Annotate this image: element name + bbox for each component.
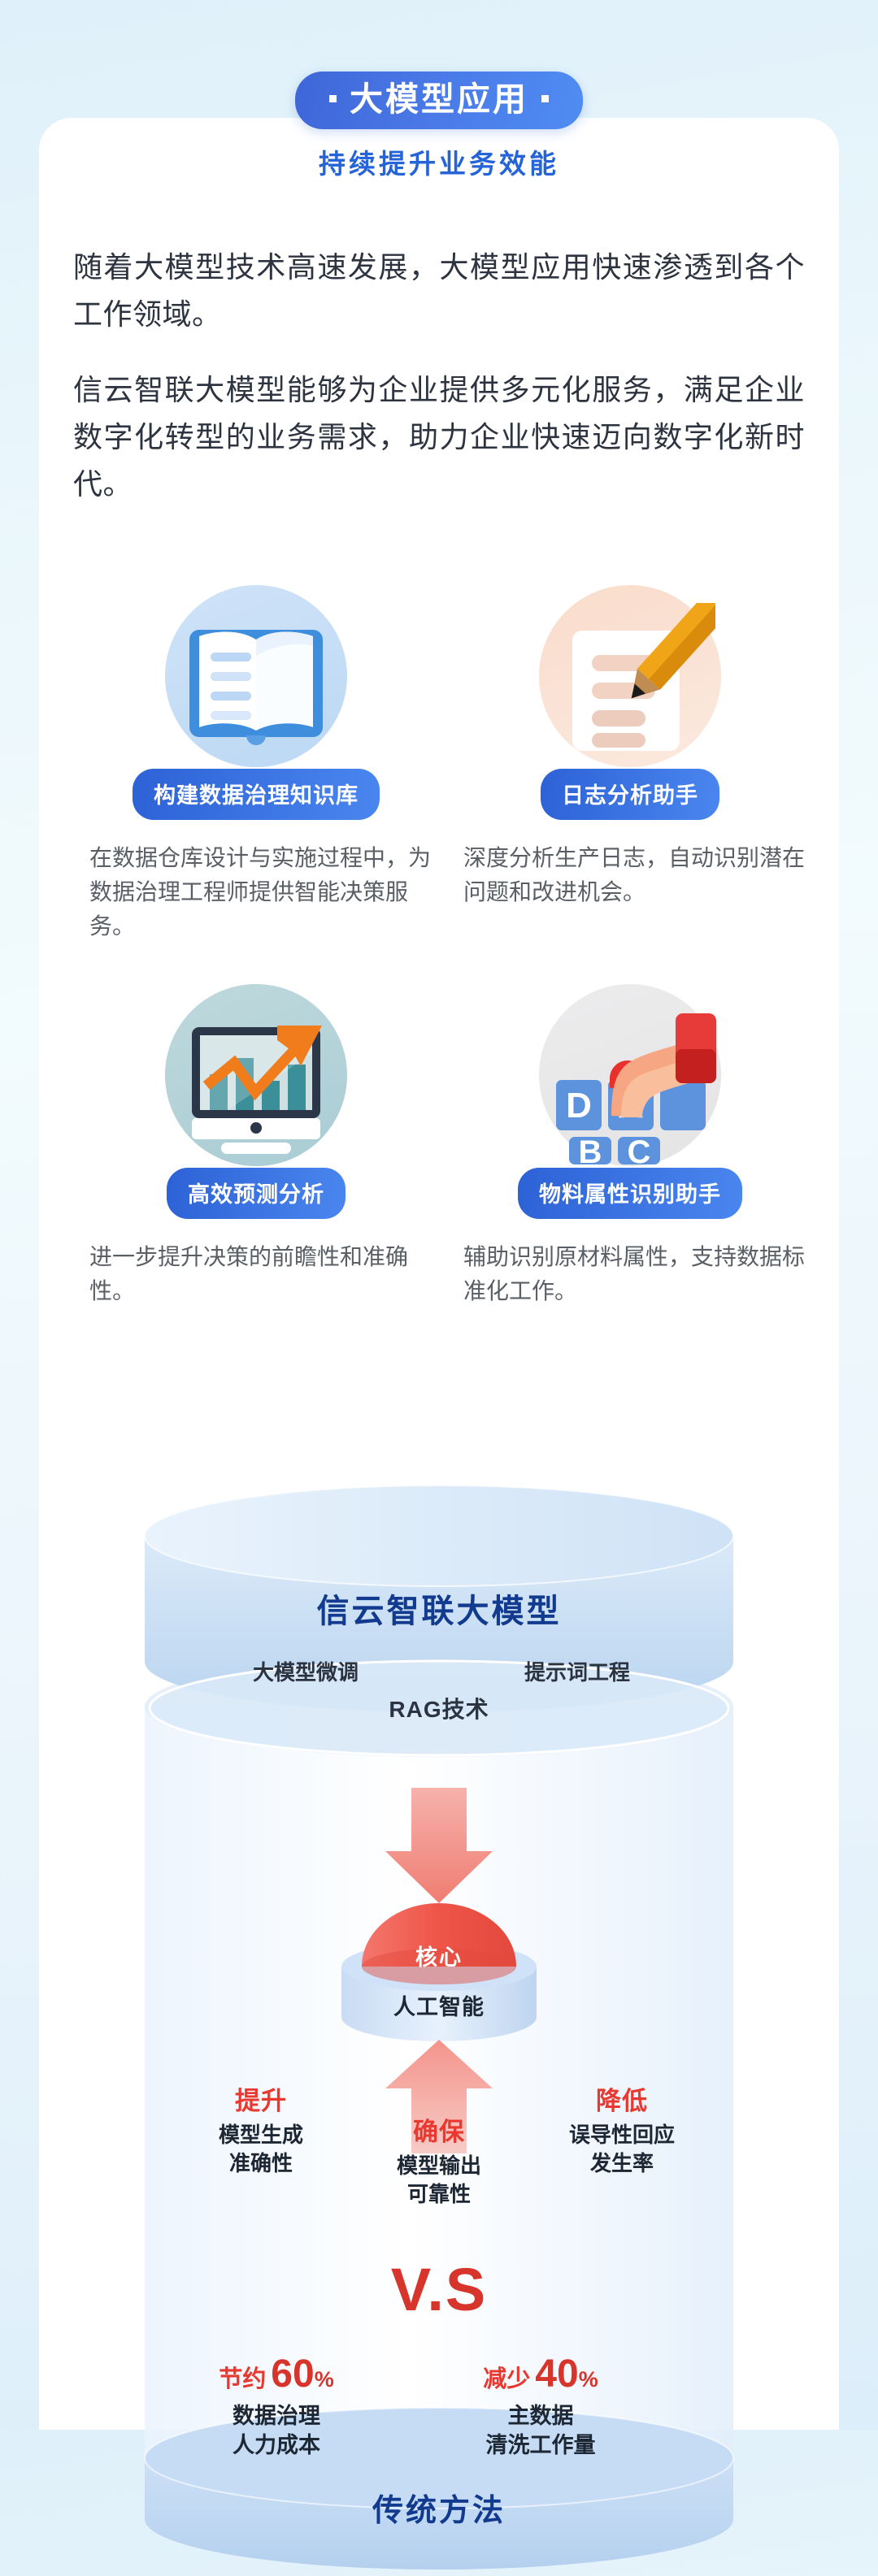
- metric-description: 数据治理人力成本: [175, 2401, 378, 2461]
- svg-text:C: C: [627, 1134, 650, 1164]
- benefit-head: 提升: [167, 2080, 354, 2117]
- metric-value: 60: [271, 2353, 314, 2396]
- benefit-item-1: 提升 模型生成准确性: [167, 2080, 354, 2178]
- feature-label-badge: 高效预测分析: [81, 1168, 431, 1219]
- core-base-label: 人工智能: [0, 1989, 878, 2021]
- tech-label-prompt: 提示词工程: [488, 1656, 667, 1686]
- feature-label-badge: 物料属性识别助手: [455, 1168, 805, 1219]
- metric-value: 40: [535, 2353, 578, 2396]
- intro-paragraph-1: 随着大模型技术高速发展，大模型应用快速渗透到各个工作领域。: [73, 244, 805, 339]
- metric-item-1: 节约60% 数据治理人力成本: [175, 2352, 378, 2461]
- monitor-growth-chart-icon: [171, 1004, 341, 1163]
- feature-label: 高效预测分析: [167, 1168, 346, 1219]
- feature-card-log-analysis[interactable]: 日志分析助手 深度分析生产日志，自动识别潜在问题和改进机会。: [455, 579, 805, 943]
- feature-label-badge: 构建数据治理知识库: [81, 769, 431, 820]
- benefit-body: 模型生成准确性: [167, 2121, 354, 2178]
- intro-paragraph-2: 信云智联大模型能够为企业提供多元化服务，满足企业数字化转型的业务需求，助力企业快…: [73, 366, 805, 509]
- benefit-head: 降低: [524, 2080, 719, 2117]
- feature-illustration: [455, 579, 805, 790]
- feature-description: 进一步提升决策的前瞻性和准确性。: [81, 1240, 431, 1308]
- feature-label: 日志分析助手: [541, 769, 719, 820]
- bottom-cylinder-label: 传统方法: [0, 2485, 878, 2530]
- metric-label: 节约: [219, 2366, 266, 2392]
- metric-description: 主数据清洗工作量: [439, 2401, 642, 2461]
- tech-label-finetune: 大模型微调: [216, 1656, 395, 1686]
- benefit-item-2: 确保 模型输出可靠性: [346, 2111, 532, 2209]
- svg-text:D: D: [566, 1086, 592, 1125]
- metric-unit: %: [315, 2367, 334, 2392]
- feature-illustration: D A B C: [455, 978, 805, 1189]
- metric-label: 减少: [483, 2366, 530, 2392]
- page-title-badge: 大模型应用: [295, 72, 583, 129]
- metric-unit: %: [579, 2367, 598, 2392]
- feature-card-predictive-analysis[interactable]: 高效预测分析 进一步提升决策的前瞻性和准确性。: [81, 978, 431, 1308]
- versus-label: V.S: [0, 2255, 878, 2324]
- feature-card-material-attribute[interactable]: D A B C 物料属性识别助手 辅助识别原材料属性，支持数据标准化工作。: [455, 978, 805, 1308]
- open-book-icon: [175, 607, 337, 761]
- core-dome-label: 核心: [0, 1940, 878, 1971]
- hand-letter-tiles-icon: D A B C: [543, 1002, 718, 1164]
- feature-card-knowledge-base[interactable]: 构建数据治理知识库 在数据仓库设计与实施过程中，为数据治理工程师提供智能决策服务…: [81, 579, 431, 943]
- benefit-head: 确保: [346, 2111, 532, 2148]
- title-dot-left-icon: [329, 95, 337, 102]
- feature-description: 辅助识别原材料属性，支持数据标准化工作。: [455, 1240, 805, 1308]
- intro-section: 随着大模型技术高速发展，大模型应用快速渗透到各个工作领域。 信云智联大模型能够为…: [73, 244, 805, 536]
- metric-item-2: 减少40% 主数据清洗工作量: [439, 2352, 642, 2461]
- tech-label-rag: RAG技术: [0, 1692, 878, 1724]
- model-architecture-diagram: 信云智联大模型 大模型微调 提示词工程 RAG技术 核心 人工智能 提升 模型生…: [0, 1438, 878, 2332]
- benefit-item-3: 降低 误导性回应发生率: [524, 2080, 719, 2178]
- feature-illustration: [81, 978, 431, 1189]
- benefit-body: 误导性回应发生率: [524, 2121, 719, 2178]
- page-title: 大模型应用: [350, 80, 528, 118]
- feature-label-badge: 日志分析助手: [455, 769, 805, 820]
- metric-value-line: 节约60%: [175, 2352, 378, 2396]
- svg-text:B: B: [578, 1134, 602, 1164]
- feature-description: 在数据仓库设计与实施过程中，为数据治理工程师提供智能决策服务。: [81, 841, 431, 943]
- feature-illustration: [81, 579, 431, 790]
- feature-label: 构建数据治理知识库: [133, 769, 380, 820]
- pencil-document-icon: [545, 603, 715, 765]
- page-header: 大模型应用 持续提升业务效能: [0, 72, 878, 181]
- feature-label: 物料属性识别助手: [518, 1168, 742, 1219]
- feature-description: 深度分析生产日志，自动识别潜在问题和改进机会。: [455, 841, 805, 909]
- top-cylinder-label: 信云智联大模型: [0, 1585, 878, 1632]
- metric-value-line: 减少40%: [439, 2352, 642, 2396]
- feature-grid: 构建数据治理知识库 在数据仓库设计与实施过程中，为数据治理工程师提供智能决策服务…: [81, 579, 805, 1308]
- benefit-body: 模型输出可靠性: [346, 2152, 532, 2209]
- page-subtitle: 持续提升业务效能: [0, 142, 878, 181]
- title-dot-right-icon: [541, 95, 549, 102]
